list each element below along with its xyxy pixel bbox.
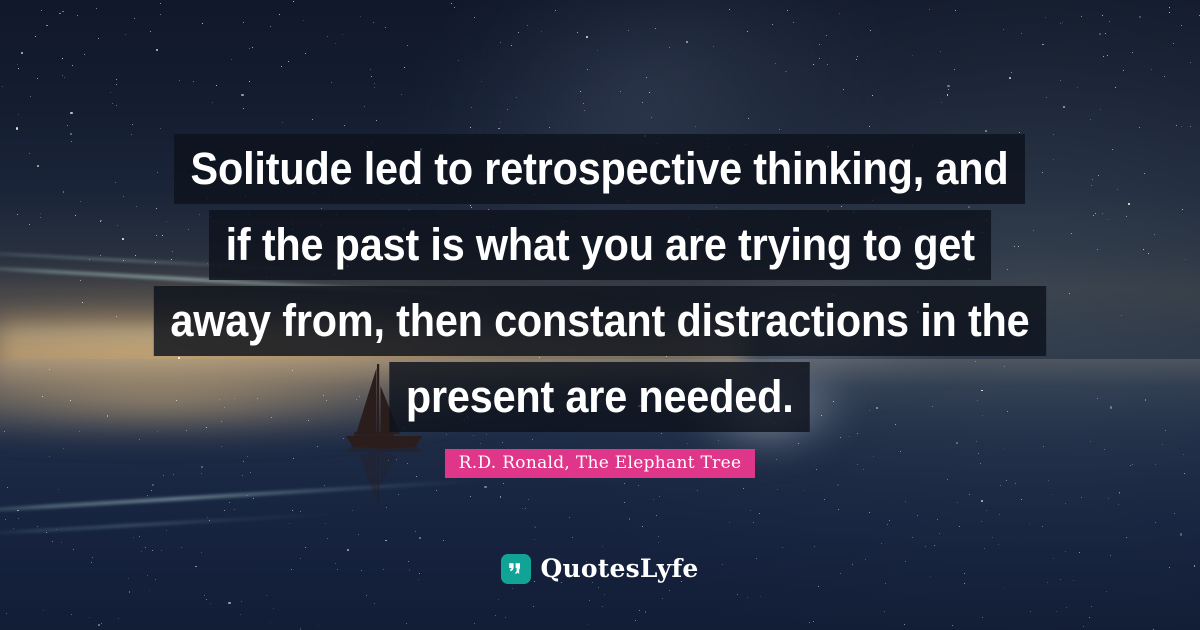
attribution-label: R.D. Ronald, The Elephant Tree (445, 449, 756, 478)
quote-attribution: R.D. Ronald, The Elephant Tree (0, 449, 1200, 478)
quote-card: Solitude led to retrospective thinking, … (0, 0, 1200, 630)
brand-logo[interactable]: QuotesLyfe (0, 554, 1200, 584)
quote-text: Solitude led to retrospective thinking, … (0, 134, 1200, 438)
quote-line: present are needed. (390, 362, 811, 432)
quote-mark-icon (501, 554, 531, 584)
quote-mark-glyph (506, 559, 526, 579)
brand-name: QuotesLyfe (540, 554, 698, 584)
quote-line: Solitude led to retrospective thinking, … (174, 134, 1025, 204)
quote-line: if the past is what you are trying to ge… (209, 210, 991, 280)
quote-line: away from, then constant distractions in… (154, 286, 1046, 356)
